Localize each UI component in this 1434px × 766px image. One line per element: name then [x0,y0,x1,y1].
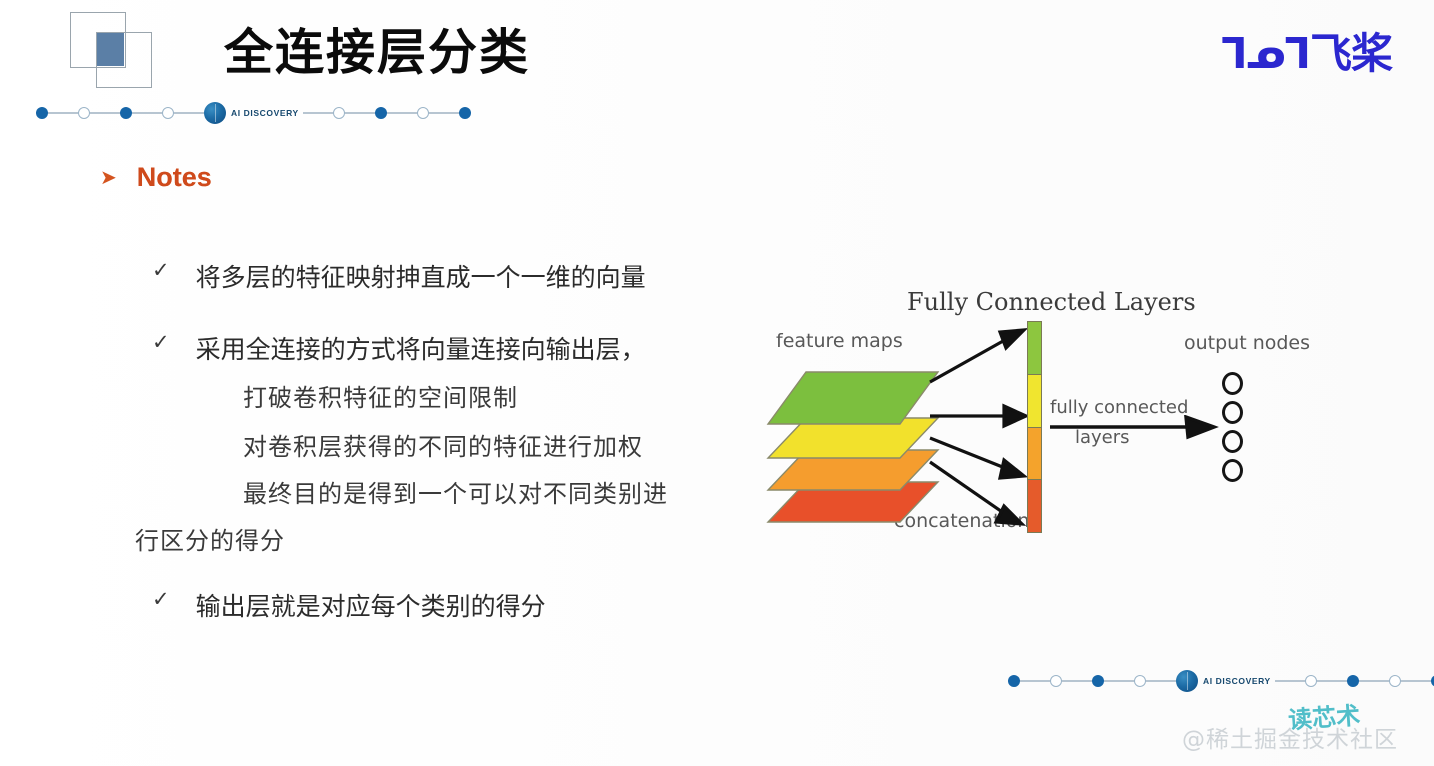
chain-line [1020,680,1050,681]
chain-dot-hollow [162,107,174,119]
chain-dot-filled [1092,675,1104,687]
output-node [1222,372,1243,395]
handwritten-line: 对卷积层获得的不同的特征进行加权 [243,427,643,462]
chain-dot-filled [375,107,387,119]
chain-label: AI DISCOVERY [231,108,299,118]
chain-dot-hollow [1134,675,1146,687]
list-item-label: 采用全连接的方式将向量连接向输出层， [196,330,646,366]
output-node [1222,459,1243,482]
globe-icon [204,102,226,124]
chain-dot-hollow [1389,675,1401,687]
chain-dot-filled [1008,675,1020,687]
handwritten-line: 行区分的得分 [135,521,285,556]
chain-line [90,112,120,113]
chain-line [1146,680,1176,681]
chain-dot-filled [459,107,471,119]
chain-line [48,112,78,113]
notes-heading-label: Notes [137,162,212,193]
fully-connected-layers-diagram: Fully Connected Layers feature maps outp… [752,282,1332,547]
bar-segment-red [1028,480,1041,532]
handwritten-line: 打破卷积特征的空间限制 [243,378,518,413]
concat-arrows [928,320,1038,535]
bar-segment-yellow [1028,375,1041,428]
chain-line [132,112,162,113]
globe-icon [1176,670,1198,692]
paddlepaddle-logo: ᒣᓄᒣ飞桨 [1192,18,1392,74]
output-node [1222,401,1243,424]
list-item: ✓ 输出层就是对应每个类别的得分 [152,587,546,623]
chain-line [345,112,375,113]
chain-dot-hollow [333,107,345,119]
chain-line [1359,680,1389,681]
chain-dot-hollow [1050,675,1062,687]
bar-segment-green [1028,322,1041,375]
chain-line [387,112,417,113]
notes-heading: ➤ Notes [100,162,212,193]
label-feature-maps: feature maps [776,330,903,352]
arrow-bullet-icon: ➤ [100,168,117,188]
feature-map-layer-1 [768,372,938,424]
page-title: 全连接层分类 [224,13,530,84]
check-icon: ✓ [152,258,170,283]
chain-line [1317,680,1347,681]
bar-segment-orange [1028,428,1041,481]
chain-dot-filled [1347,675,1359,687]
watermark-community: @稀土掘金技术社区 [1182,720,1398,754]
chain-line [1062,680,1092,681]
chain-dot-hollow [78,107,90,119]
list-item-label: 将多层的特征映射抻直成一个一维的向量 [196,258,646,294]
chain-line [1275,680,1305,681]
concatenation-bar [1027,321,1042,533]
output-node-group [1222,372,1243,488]
chain-dot-hollow [417,107,429,119]
decor-dot-chain-top: AI DISCOVERY [36,102,471,124]
chain-line [429,112,459,113]
label-output-nodes: output nodes [1184,332,1310,354]
diagram-title: Fully Connected Layers [907,288,1196,316]
chain-dot-filled [36,107,48,119]
list-item: ✓ 将多层的特征映射抻直成一个一维的向量 [152,258,646,294]
chain-dot-filled [120,107,132,119]
square-intersection-fill [97,33,124,66]
check-icon: ✓ [152,587,170,612]
chain-line [1401,680,1431,681]
list-item: ✓ 采用全连接的方式将向量连接向输出层， [152,330,646,366]
handwritten-line: 最终目的是得到一个可以对不同类别进 [243,474,668,509]
check-icon: ✓ [152,330,170,355]
decor-dot-chain-bottom: AI DISCOVERY [1008,670,1434,692]
chain-line [174,112,204,113]
slide-canvas: 全连接层分类 ᒣᓄᒣ飞桨 AI DISCOVERY ➤ Notes ✓ 将多层的… [0,0,1434,766]
chain-dot-hollow [1305,675,1317,687]
output-node [1222,430,1243,453]
chain-label: AI DISCOVERY [1203,676,1271,686]
list-item-label: 输出层就是对应每个类别的得分 [196,587,546,623]
feature-map-stack [758,362,948,527]
chain-line [303,112,333,113]
fully-connected-arrow [1048,415,1220,445]
paddlepaddle-logo-text: ᒣᓄᒣ飞桨 [1221,20,1392,81]
overlapping-squares-mark [63,8,183,88]
chain-line [1104,680,1134,681]
